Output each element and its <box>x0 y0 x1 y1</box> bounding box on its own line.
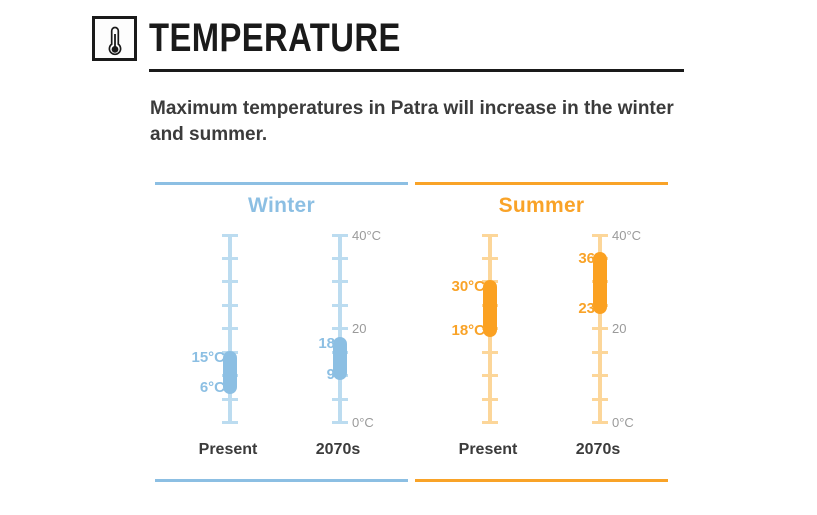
axis-tick-40 <box>482 234 498 237</box>
panel-divider-top <box>155 182 408 185</box>
plot-winter: 15°C 6°C Present 40°C 20 0°C 18 9 2070s <box>155 228 408 482</box>
axis-tick-40 <box>222 234 238 237</box>
axis-tick-35 <box>482 257 498 260</box>
panel-divider-top <box>415 182 668 185</box>
panel-summer: Summer 30°C 18°C Present <box>415 182 668 482</box>
thermometer-winter-present: 15°C 6°C Present <box>173 228 283 482</box>
panel-divider-bottom <box>415 479 668 482</box>
axis-tick-40 <box>332 234 348 237</box>
value-label-high: 15°C <box>191 350 225 365</box>
thermometer-summer-2070s: 40°C 20 0°C 36 23 2070s <box>543 228 653 482</box>
range-bar <box>483 280 497 337</box>
axis-tick-20 <box>332 327 348 330</box>
axis-tick-label-20: 20 <box>612 322 626 335</box>
value-label-high: 30°C <box>451 279 485 294</box>
period-label-present: Present <box>173 441 283 459</box>
range-bar <box>333 337 347 380</box>
header-divider <box>149 69 684 72</box>
axis-tick-20 <box>592 327 608 330</box>
axis-tick-30 <box>332 280 348 283</box>
axis-tick-label-20: 20 <box>352 322 366 335</box>
panel-divider-bottom <box>155 479 408 482</box>
thermometer-icon <box>92 16 137 61</box>
value-label-low: 9 <box>327 367 335 382</box>
value-label-low: 23 <box>578 301 595 316</box>
axis-tick-0 <box>592 421 608 424</box>
page-header: TEMPERATURE <box>92 14 684 74</box>
axis-tick-label-40: 40°C <box>612 229 641 242</box>
axis-tick-5 <box>592 398 608 401</box>
page-title: TEMPERATURE <box>149 12 401 64</box>
axis-tick-label-0: 0°C <box>612 416 634 429</box>
range-bar <box>593 252 607 314</box>
axis-tick-25 <box>332 304 348 307</box>
period-label-present: Present <box>433 441 543 459</box>
value-label-high: 36 <box>578 251 595 266</box>
axis-tick-30 <box>222 280 238 283</box>
axis-tick-5 <box>482 398 498 401</box>
period-label-2070s: 2070s <box>283 441 393 459</box>
axis-tick-25 <box>222 304 238 307</box>
range-bar <box>223 351 237 394</box>
axis-tick-label-0: 0°C <box>352 416 374 429</box>
value-label-low: 18°C <box>451 323 485 338</box>
axis-tick-label-40: 40°C <box>352 229 381 242</box>
axis-tick-20 <box>222 327 238 330</box>
axis-tick-5 <box>332 398 348 401</box>
value-label-high: 18 <box>318 336 335 351</box>
plot-summer: 30°C 18°C Present 40°C 20 0°C 36 23 2070… <box>415 228 668 482</box>
thermometer-summer-present: 30°C 18°C Present <box>433 228 543 482</box>
subtitle-text: Maximum temperatures in Patra will incre… <box>150 96 680 148</box>
axis-tick-5 <box>222 398 238 401</box>
axis-tick-0 <box>222 421 238 424</box>
panel-title-winter: Winter <box>155 194 408 218</box>
axis-tick-0 <box>332 421 348 424</box>
axis-tick-10 <box>482 374 498 377</box>
axis-tick-0 <box>482 421 498 424</box>
axis-tick-40 <box>592 234 608 237</box>
value-label-low: 6°C <box>200 380 225 395</box>
panel-winter: Winter 15°C 6°C Present <box>155 182 408 482</box>
axis-tick-15 <box>592 351 608 354</box>
period-label-2070s: 2070s <box>543 441 653 459</box>
axis-tick-10 <box>592 374 608 377</box>
thermometer-winter-2070s: 40°C 20 0°C 18 9 2070s <box>283 228 393 482</box>
axis-tick-35 <box>222 257 238 260</box>
axis-tick-35 <box>332 257 348 260</box>
axis-tick-15 <box>482 351 498 354</box>
panel-title-summer: Summer <box>415 194 668 218</box>
